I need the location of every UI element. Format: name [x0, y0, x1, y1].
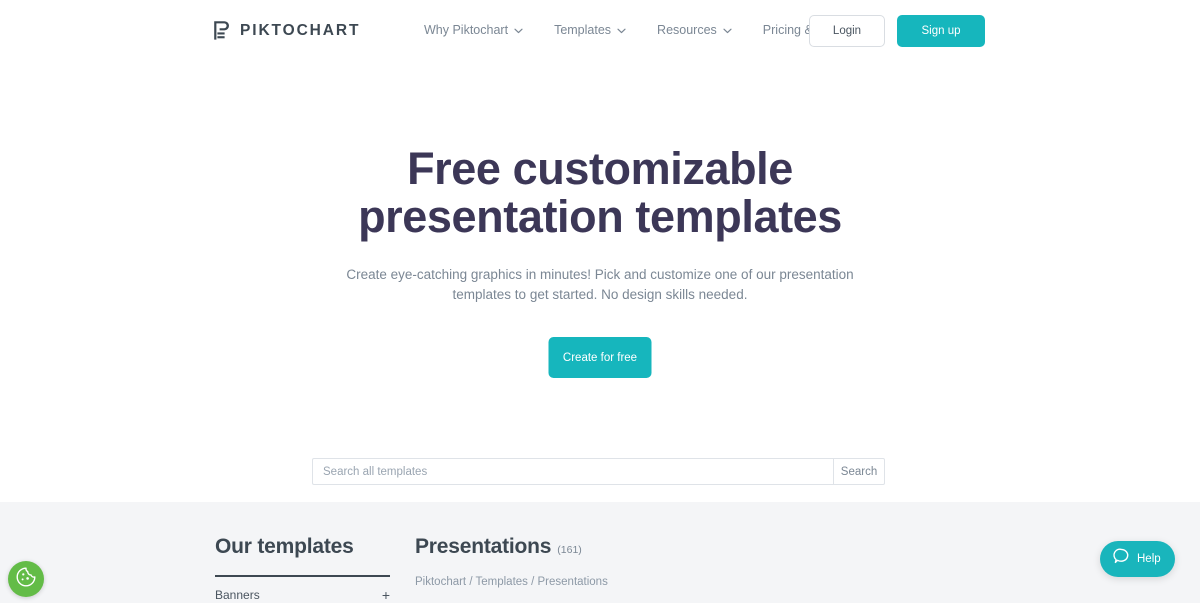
hero-section: Free customizable presentation templates… [0, 62, 1200, 502]
login-button[interactable]: Login [809, 15, 885, 47]
piktochart-p-logo-icon [212, 20, 231, 41]
logo[interactable]: PIKTOCHART [212, 20, 360, 41]
hero-title-line-1: Free customizable [407, 143, 793, 194]
create-for-free-button[interactable]: Create for free [549, 337, 652, 378]
hero-title-line-2: presentation templates [358, 191, 842, 242]
chevron-down-icon [617, 24, 626, 37]
sidebar-divider [215, 575, 390, 577]
help-widget-button[interactable]: Help [1100, 541, 1175, 577]
page-root: PIKTOCHART Why Piktochart Templates Reso… [0, 0, 1200, 603]
chevron-down-icon [723, 24, 732, 37]
breadcrumb[interactable]: Piktochart / Templates / Presentations [415, 576, 608, 588]
nav-item-label: Resources [657, 24, 717, 37]
speech-bubble-icon [1112, 547, 1131, 571]
nav-item-why-piktochart[interactable]: Why Piktochart [424, 24, 523, 37]
chevron-down-icon [514, 24, 523, 37]
hero-subtitle: Create eye-catching graphics in minutes!… [320, 265, 880, 305]
cookie-consent-button[interactable] [8, 561, 44, 597]
site-header: PIKTOCHART Why Piktochart Templates Reso… [0, 0, 1200, 62]
signup-button[interactable]: Sign up [897, 15, 985, 47]
page-title: Free customizable presentation templates [0, 145, 1200, 241]
search-input[interactable] [312, 458, 833, 485]
nav-item-resources[interactable]: Resources [657, 24, 732, 37]
cookie-icon [15, 566, 37, 593]
sidebar-item-label: Banners [215, 588, 260, 602]
logo-text: PIKTOCHART [240, 23, 360, 39]
help-widget-label: Help [1137, 553, 1161, 565]
nav-item-templates[interactable]: Templates [554, 24, 626, 37]
category-heading: Presentations (161) [415, 535, 582, 559]
nav-item-label: Templates [554, 24, 611, 37]
sidebar-title: Our templates [215, 535, 354, 559]
category-count: (161) [557, 544, 582, 556]
sidebar-item-banners[interactable]: Banners + [215, 588, 390, 602]
nav-item-label: Why Piktochart [424, 24, 508, 37]
plus-icon: + [382, 588, 390, 602]
templates-browse-section: Our templates Banners + Presentations (1… [0, 502, 1200, 603]
template-search-bar: Search [312, 458, 885, 485]
search-button[interactable]: Search [833, 458, 885, 485]
category-title: Presentations [415, 535, 551, 559]
main-nav: Why Piktochart Templates Resources Prici… [424, 24, 863, 37]
